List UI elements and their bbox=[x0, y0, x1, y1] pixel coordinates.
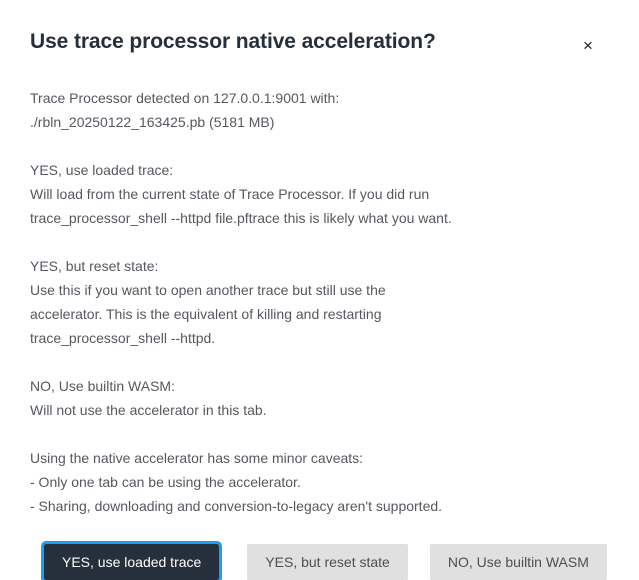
reset-state-button[interactable]: YES, but reset state bbox=[247, 544, 408, 580]
paragraph-yes-use-loaded-trace: YES, use loaded trace: Will load from th… bbox=[30, 158, 609, 230]
page-title: Use trace processor native acceleration? bbox=[30, 26, 436, 56]
paragraph-detection-info: Trace Processor detected on 127.0.0.1:90… bbox=[30, 86, 609, 134]
native-acceleration-dialog: Use trace processor native acceleration?… bbox=[0, 0, 639, 544]
paragraph-caveats: Using the native accelerator has some mi… bbox=[30, 446, 609, 518]
dialog-header: Use trace processor native acceleration?… bbox=[0, 0, 639, 58]
use-loaded-trace-button[interactable]: YES, use loaded trace bbox=[44, 544, 219, 580]
close-icon[interactable]: × bbox=[575, 32, 601, 58]
paragraph-yes-but-reset-state: YES, but reset state: Use this if you wa… bbox=[30, 254, 609, 350]
dialog-body: Trace Processor detected on 127.0.0.1:90… bbox=[0, 86, 639, 518]
paragraph-no-use-builtin-wasm: NO, Use builtin WASM: Will not use the a… bbox=[30, 374, 609, 422]
dialog-footer: YES, use loaded trace YES, but reset sta… bbox=[0, 544, 639, 580]
use-builtin-wasm-button[interactable]: NO, Use builtin WASM bbox=[430, 544, 607, 580]
